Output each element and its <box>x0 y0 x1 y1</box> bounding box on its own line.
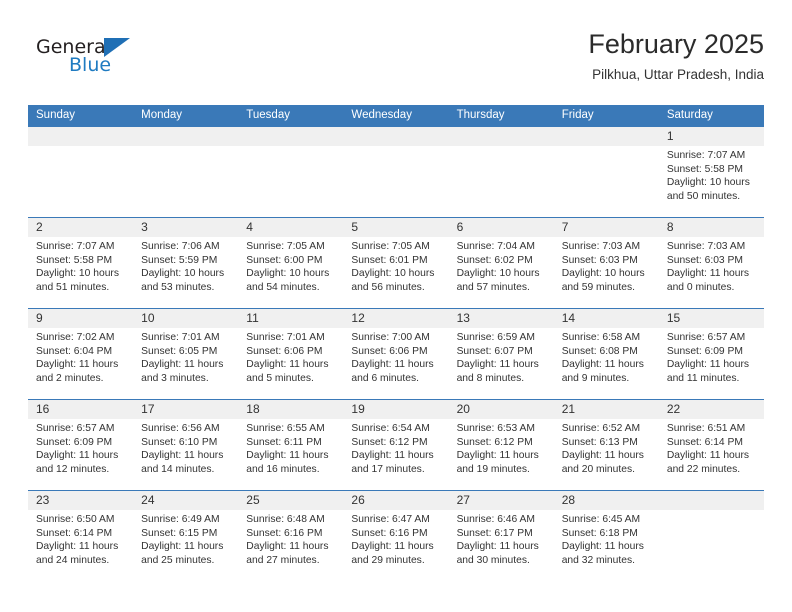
day-number: 20 <box>449 400 554 419</box>
sunset-text: Sunset: 6:11 PM <box>246 436 337 450</box>
dow-saturday: Saturday <box>659 105 764 126</box>
day-cell[interactable]: Sunrise: 6:54 AM Sunset: 6:12 PM Dayligh… <box>343 419 448 490</box>
daylight-text-line1: Daylight: 11 hours <box>246 449 337 463</box>
day-cell[interactable]: Sunrise: 7:00 AM Sunset: 6:06 PM Dayligh… <box>343 328 448 399</box>
daylight-text-line1: Daylight: 11 hours <box>562 358 653 372</box>
daylight-text-line2: and 27 minutes. <box>246 554 337 568</box>
daylight-text-line1: Daylight: 11 hours <box>457 449 548 463</box>
sunset-text: Sunset: 6:09 PM <box>667 345 758 359</box>
dow-sunday: Sunday <box>28 105 133 126</box>
daylight-text-line2: and 8 minutes. <box>457 372 548 386</box>
sunrise-text: Sunrise: 7:01 AM <box>246 331 337 345</box>
day-number: 5 <box>343 218 448 237</box>
day-number: 28 <box>554 491 659 510</box>
day-number: 14 <box>554 309 659 328</box>
sunset-text: Sunset: 6:16 PM <box>246 527 337 541</box>
daylight-text-line1: Daylight: 10 hours <box>141 267 232 281</box>
sunrise-text: Sunrise: 7:05 AM <box>351 240 442 254</box>
week-day-details: Sunrise: 7:07 AM Sunset: 5:58 PM Dayligh… <box>28 237 764 308</box>
sunset-text: Sunset: 6:04 PM <box>36 345 127 359</box>
week-day-details: Sunrise: 6:57 AM Sunset: 6:09 PM Dayligh… <box>28 419 764 490</box>
daylight-text-line1: Daylight: 11 hours <box>141 540 232 554</box>
day-cell[interactable] <box>238 146 343 217</box>
day-number: 27 <box>449 491 554 510</box>
week-day-details: Sunrise: 6:50 AM Sunset: 6:14 PM Dayligh… <box>28 510 764 581</box>
daylight-text-line1: Daylight: 11 hours <box>351 358 442 372</box>
sunset-text: Sunset: 6:12 PM <box>457 436 548 450</box>
daylight-text-line2: and 57 minutes. <box>457 281 548 295</box>
day-number: 19 <box>343 400 448 419</box>
daylight-text-line2: and 5 minutes. <box>246 372 337 386</box>
daylight-text-line2: and 16 minutes. <box>246 463 337 477</box>
sunrise-text: Sunrise: 6:48 AM <box>246 513 337 527</box>
day-cell[interactable] <box>28 146 133 217</box>
daylight-text-line2: and 30 minutes. <box>457 554 548 568</box>
daylight-text-line2: and 32 minutes. <box>562 554 653 568</box>
brand-name-blue: Blue <box>69 54 111 76</box>
daylight-text-line1: Daylight: 11 hours <box>667 267 758 281</box>
daylight-text-line2: and 59 minutes. <box>562 281 653 295</box>
week-day-details: Sunrise: 7:07 AM Sunset: 5:58 PM Dayligh… <box>28 146 764 217</box>
daylight-text-line1: Daylight: 10 hours <box>562 267 653 281</box>
dow-wednesday: Wednesday <box>343 105 448 126</box>
week-row: 23 24 25 26 27 28 Sunrise: 6:50 AM Sunse… <box>28 490 764 581</box>
calendar-page: General Blue February 2025 Pilkhua, Utta… <box>0 0 792 612</box>
daylight-text-line1: Daylight: 10 hours <box>351 267 442 281</box>
day-cell[interactable]: Sunrise: 6:59 AM Sunset: 6:07 PM Dayligh… <box>449 328 554 399</box>
sunrise-text: Sunrise: 7:06 AM <box>141 240 232 254</box>
daylight-text-line2: and 0 minutes. <box>667 281 758 295</box>
day-cell[interactable]: Sunrise: 6:47 AM Sunset: 6:16 PM Dayligh… <box>343 510 448 581</box>
day-cell[interactable]: Sunrise: 7:03 AM Sunset: 6:03 PM Dayligh… <box>554 237 659 308</box>
daylight-text-line2: and 12 minutes. <box>36 463 127 477</box>
sunset-text: Sunset: 6:12 PM <box>351 436 442 450</box>
sunset-text: Sunset: 6:13 PM <box>562 436 653 450</box>
sunset-text: Sunset: 6:01 PM <box>351 254 442 268</box>
week-row: 9 10 11 12 13 14 15 Sunrise: 7:02 AM Sun… <box>28 308 764 399</box>
sunset-text: Sunset: 6:06 PM <box>351 345 442 359</box>
day-cell[interactable]: Sunrise: 7:07 AM Sunset: 5:58 PM Dayligh… <box>28 237 133 308</box>
daylight-text-line1: Daylight: 11 hours <box>667 358 758 372</box>
daylight-text-line2: and 2 minutes. <box>36 372 127 386</box>
day-number: 10 <box>133 309 238 328</box>
sunset-text: Sunset: 6:09 PM <box>36 436 127 450</box>
day-cell[interactable]: Sunrise: 7:01 AM Sunset: 6:06 PM Dayligh… <box>238 328 343 399</box>
daylight-text-line1: Daylight: 11 hours <box>457 358 548 372</box>
day-cell[interactable]: Sunrise: 7:04 AM Sunset: 6:02 PM Dayligh… <box>449 237 554 308</box>
page-subtitle: Pilkhua, Uttar Pradesh, India <box>588 65 764 85</box>
daylight-text-line1: Daylight: 10 hours <box>36 267 127 281</box>
day-cell[interactable]: Sunrise: 6:55 AM Sunset: 6:11 PM Dayligh… <box>238 419 343 490</box>
day-number: 8 <box>659 218 764 237</box>
daylight-text-line1: Daylight: 11 hours <box>562 449 653 463</box>
sunset-text: Sunset: 6:03 PM <box>667 254 758 268</box>
sunrise-text: Sunrise: 6:45 AM <box>562 513 653 527</box>
daylight-text-line1: Daylight: 11 hours <box>141 358 232 372</box>
sunrise-text: Sunrise: 6:46 AM <box>457 513 548 527</box>
week-row: 1 <box>28 126 764 217</box>
calendar-grid: Sunday Monday Tuesday Wednesday Thursday… <box>28 105 764 581</box>
daylight-text-line2: and 6 minutes. <box>351 372 442 386</box>
daylight-text-line1: Daylight: 10 hours <box>246 267 337 281</box>
day-number: 6 <box>449 218 554 237</box>
week-row: 16 17 18 19 20 21 22 Sunrise: 6:57 AM Su… <box>28 399 764 490</box>
daylight-text-line1: Daylight: 11 hours <box>351 449 442 463</box>
daylight-text-line2: and 50 minutes. <box>667 190 758 204</box>
day-cell[interactable]: Sunrise: 6:49 AM Sunset: 6:15 PM Dayligh… <box>133 510 238 581</box>
day-number: 4 <box>238 218 343 237</box>
day-cell[interactable]: Sunrise: 6:51 AM Sunset: 6:14 PM Dayligh… <box>659 419 764 490</box>
daylight-text-line1: Daylight: 10 hours <box>667 176 758 190</box>
daylight-text-line2: and 17 minutes. <box>351 463 442 477</box>
dow-friday: Friday <box>554 105 659 126</box>
daylight-text-line2: and 54 minutes. <box>246 281 337 295</box>
day-number: 3 <box>133 218 238 237</box>
day-number <box>343 127 448 146</box>
daylight-text-line1: Daylight: 11 hours <box>667 449 758 463</box>
sunrise-text: Sunrise: 6:53 AM <box>457 422 548 436</box>
sunrise-text: Sunrise: 6:52 AM <box>562 422 653 436</box>
daylight-text-line1: Daylight: 10 hours <box>457 267 548 281</box>
dow-tuesday: Tuesday <box>238 105 343 126</box>
daylight-text-line2: and 22 minutes. <box>667 463 758 477</box>
sunrise-text: Sunrise: 6:55 AM <box>246 422 337 436</box>
sunset-text: Sunset: 6:07 PM <box>457 345 548 359</box>
sunset-text: Sunset: 6:03 PM <box>562 254 653 268</box>
daylight-text-line1: Daylight: 11 hours <box>562 540 653 554</box>
daylight-text-line1: Daylight: 11 hours <box>246 540 337 554</box>
week-row: 2 3 4 5 6 7 8 Sunrise: 7:07 AM Sunset: 5… <box>28 217 764 308</box>
day-of-week-header: Sunday Monday Tuesday Wednesday Thursday… <box>28 105 764 126</box>
daylight-text-line2: and 53 minutes. <box>141 281 232 295</box>
day-cell[interactable]: Sunrise: 7:05 AM Sunset: 6:01 PM Dayligh… <box>343 237 448 308</box>
sunrise-text: Sunrise: 6:51 AM <box>667 422 758 436</box>
daylight-text-line2: and 9 minutes. <box>562 372 653 386</box>
day-cell[interactable]: Sunrise: 7:06 AM Sunset: 5:59 PM Dayligh… <box>133 237 238 308</box>
day-cell[interactable]: Sunrise: 7:03 AM Sunset: 6:03 PM Dayligh… <box>659 237 764 308</box>
day-cell[interactable]: Sunrise: 6:58 AM Sunset: 6:08 PM Dayligh… <box>554 328 659 399</box>
day-cell[interactable] <box>659 510 764 581</box>
daylight-text-line2: and 51 minutes. <box>36 281 127 295</box>
sunrise-text: Sunrise: 6:56 AM <box>141 422 232 436</box>
day-cell[interactable]: Sunrise: 6:53 AM Sunset: 6:12 PM Dayligh… <box>449 419 554 490</box>
daylight-text-line2: and 56 minutes. <box>351 281 442 295</box>
day-cell[interactable]: Sunrise: 6:46 AM Sunset: 6:17 PM Dayligh… <box>449 510 554 581</box>
sunrise-text: Sunrise: 6:57 AM <box>36 422 127 436</box>
brand-logo[interactable]: General Blue <box>36 36 166 82</box>
daylight-text-line2: and 20 minutes. <box>562 463 653 477</box>
sunset-text: Sunset: 5:58 PM <box>667 163 758 177</box>
day-number: 11 <box>238 309 343 328</box>
daylight-text-line1: Daylight: 11 hours <box>36 358 127 372</box>
day-cell[interactable]: Sunrise: 6:50 AM Sunset: 6:14 PM Dayligh… <box>28 510 133 581</box>
sunset-text: Sunset: 6:15 PM <box>141 527 232 541</box>
sunset-text: Sunset: 6:14 PM <box>667 436 758 450</box>
daylight-text-line1: Daylight: 11 hours <box>36 449 127 463</box>
week-day-numbers: 2 3 4 5 6 7 8 <box>28 218 764 237</box>
day-cell[interactable] <box>554 146 659 217</box>
day-cell[interactable]: Sunrise: 6:52 AM Sunset: 6:13 PM Dayligh… <box>554 419 659 490</box>
day-cell[interactable]: Sunrise: 6:57 AM Sunset: 6:09 PM Dayligh… <box>659 328 764 399</box>
day-number <box>449 127 554 146</box>
day-number: 23 <box>28 491 133 510</box>
sunrise-text: Sunrise: 7:00 AM <box>351 331 442 345</box>
sunrise-text: Sunrise: 6:54 AM <box>351 422 442 436</box>
dow-monday: Monday <box>133 105 238 126</box>
day-cell[interactable]: Sunrise: 7:02 AM Sunset: 6:04 PM Dayligh… <box>28 328 133 399</box>
day-cell[interactable] <box>343 146 448 217</box>
daylight-text-line1: Daylight: 11 hours <box>246 358 337 372</box>
title-block: February 2025 Pilkhua, Uttar Pradesh, In… <box>588 28 764 85</box>
day-number: 12 <box>343 309 448 328</box>
daylight-text-line1: Daylight: 11 hours <box>457 540 548 554</box>
sunset-text: Sunset: 6:18 PM <box>562 527 653 541</box>
day-number: 26 <box>343 491 448 510</box>
sunset-text: Sunset: 6:14 PM <box>36 527 127 541</box>
sunrise-text: Sunrise: 7:02 AM <box>36 331 127 345</box>
day-cell[interactable]: Sunrise: 6:57 AM Sunset: 6:09 PM Dayligh… <box>28 419 133 490</box>
daylight-text-line2: and 29 minutes. <box>351 554 442 568</box>
day-number: 24 <box>133 491 238 510</box>
sunset-text: Sunset: 6:02 PM <box>457 254 548 268</box>
sunrise-text: Sunrise: 7:05 AM <box>246 240 337 254</box>
sunset-text: Sunset: 6:00 PM <box>246 254 337 268</box>
daylight-text-line2: and 24 minutes. <box>36 554 127 568</box>
day-number: 16 <box>28 400 133 419</box>
sunrise-text: Sunrise: 6:49 AM <box>141 513 232 527</box>
daylight-text-line1: Daylight: 11 hours <box>36 540 127 554</box>
day-number <box>28 127 133 146</box>
sunrise-text: Sunrise: 6:58 AM <box>562 331 653 345</box>
day-number <box>133 127 238 146</box>
sunrise-text: Sunrise: 6:47 AM <box>351 513 442 527</box>
day-number: 18 <box>238 400 343 419</box>
week-day-numbers: 16 17 18 19 20 21 22 <box>28 400 764 419</box>
day-number: 25 <box>238 491 343 510</box>
dow-thursday: Thursday <box>449 105 554 126</box>
day-cell[interactable]: Sunrise: 7:07 AM Sunset: 5:58 PM Dayligh… <box>659 146 764 217</box>
day-cell[interactable]: Sunrise: 6:45 AM Sunset: 6:18 PM Dayligh… <box>554 510 659 581</box>
sunset-text: Sunset: 6:10 PM <box>141 436 232 450</box>
sunset-text: Sunset: 6:06 PM <box>246 345 337 359</box>
sunrise-text: Sunrise: 7:03 AM <box>667 240 758 254</box>
sunrise-text: Sunrise: 6:59 AM <box>457 331 548 345</box>
day-number: 17 <box>133 400 238 419</box>
daylight-text-line2: and 14 minutes. <box>141 463 232 477</box>
daylight-text-line1: Daylight: 11 hours <box>351 540 442 554</box>
day-number: 2 <box>28 218 133 237</box>
daylight-text-line1: Daylight: 11 hours <box>141 449 232 463</box>
sunset-text: Sunset: 5:59 PM <box>141 254 232 268</box>
sunrise-text: Sunrise: 6:57 AM <box>667 331 758 345</box>
sunset-text: Sunset: 6:08 PM <box>562 345 653 359</box>
day-number: 13 <box>449 309 554 328</box>
sunrise-text: Sunrise: 7:01 AM <box>141 331 232 345</box>
day-number: 7 <box>554 218 659 237</box>
day-cell[interactable] <box>133 146 238 217</box>
day-number: 15 <box>659 309 764 328</box>
week-day-details: Sunrise: 7:02 AM Sunset: 6:04 PM Dayligh… <box>28 328 764 399</box>
sunrise-text: Sunrise: 7:04 AM <box>457 240 548 254</box>
day-cell[interactable]: Sunrise: 7:05 AM Sunset: 6:00 PM Dayligh… <box>238 237 343 308</box>
page-header: General Blue February 2025 Pilkhua, Utta… <box>28 28 764 100</box>
week-day-numbers: 9 10 11 12 13 14 15 <box>28 309 764 328</box>
day-cell[interactable] <box>449 146 554 217</box>
sunset-text: Sunset: 6:16 PM <box>351 527 442 541</box>
sunset-text: Sunset: 6:05 PM <box>141 345 232 359</box>
daylight-text-line2: and 25 minutes. <box>141 554 232 568</box>
sunrise-text: Sunrise: 7:07 AM <box>667 149 758 163</box>
day-cell[interactable]: Sunrise: 7:01 AM Sunset: 6:05 PM Dayligh… <box>133 328 238 399</box>
daylight-text-line2: and 11 minutes. <box>667 372 758 386</box>
day-number: 22 <box>659 400 764 419</box>
sunrise-text: Sunrise: 6:50 AM <box>36 513 127 527</box>
week-day-numbers: 1 <box>28 127 764 146</box>
day-number <box>659 491 764 510</box>
page-title: February 2025 <box>588 28 764 60</box>
day-number: 1 <box>659 127 764 146</box>
day-number <box>238 127 343 146</box>
daylight-text-line2: and 3 minutes. <box>141 372 232 386</box>
sunset-text: Sunset: 5:58 PM <box>36 254 127 268</box>
sunrise-text: Sunrise: 7:03 AM <box>562 240 653 254</box>
sunset-text: Sunset: 6:17 PM <box>457 527 548 541</box>
day-number <box>554 127 659 146</box>
day-cell[interactable]: Sunrise: 6:48 AM Sunset: 6:16 PM Dayligh… <box>238 510 343 581</box>
day-number: 21 <box>554 400 659 419</box>
day-cell[interactable]: Sunrise: 6:56 AM Sunset: 6:10 PM Dayligh… <box>133 419 238 490</box>
week-day-numbers: 23 24 25 26 27 28 <box>28 491 764 510</box>
day-number: 9 <box>28 309 133 328</box>
daylight-text-line2: and 19 minutes. <box>457 463 548 477</box>
sunrise-text: Sunrise: 7:07 AM <box>36 240 127 254</box>
